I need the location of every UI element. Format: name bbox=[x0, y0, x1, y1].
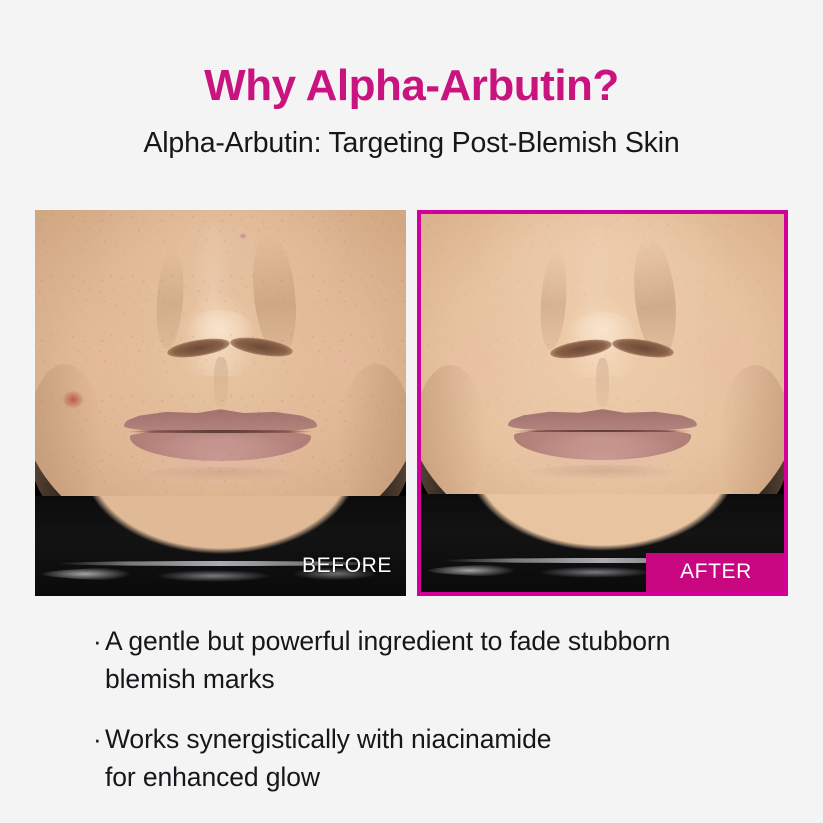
after-label: AFTER bbox=[646, 553, 784, 592]
bullet-dot-icon: · bbox=[93, 622, 105, 660]
list-item: · Works synergistically with niacinamide… bbox=[93, 720, 783, 796]
page-title: Why Alpha-Arbutin? bbox=[0, 0, 823, 110]
before-after-comparison: BEFORE bbox=[35, 210, 788, 596]
bullet-dot-icon: · bbox=[93, 720, 105, 758]
blemish-mark-cheek bbox=[63, 391, 83, 407]
promo-page: Why Alpha-Arbutin? Alpha-Arbutin: Target… bbox=[0, 0, 823, 823]
benefits-list: · A gentle but powerful ingredient to fa… bbox=[93, 622, 783, 818]
after-image-panel: AFTER bbox=[417, 210, 788, 596]
before-label: BEFORE bbox=[288, 549, 406, 584]
benefit-text: Works synergistically with niacinamide f… bbox=[105, 720, 551, 796]
after-photo bbox=[421, 214, 784, 592]
header: Why Alpha-Arbutin? Alpha-Arbutin: Target… bbox=[0, 0, 823, 161]
before-photo bbox=[35, 210, 406, 596]
benefit-text: A gentle but powerful ingredient to fade… bbox=[105, 622, 670, 698]
page-subtitle: Alpha-Arbutin: Targeting Post-Blemish Sk… bbox=[0, 110, 823, 160]
before-image-panel: BEFORE bbox=[35, 210, 406, 596]
list-item: · A gentle but powerful ingredient to fa… bbox=[93, 622, 783, 698]
